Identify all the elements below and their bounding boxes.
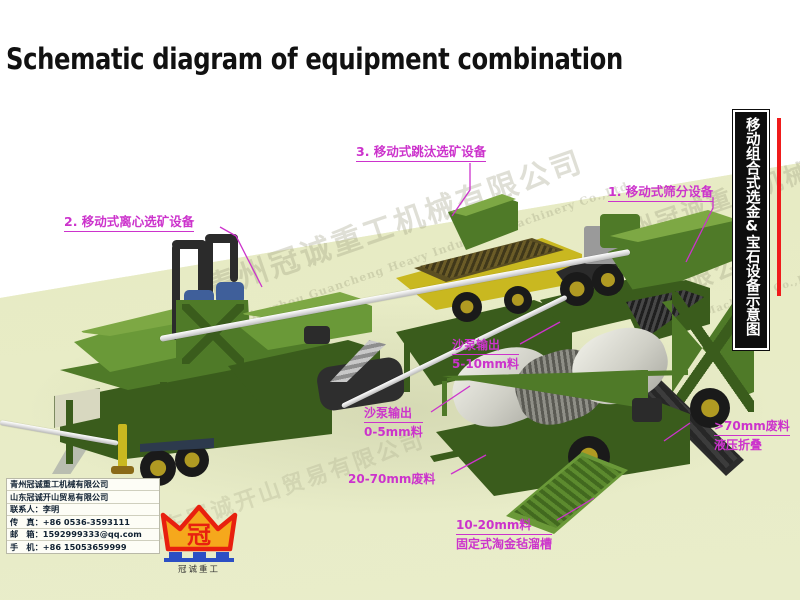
logo-base-block-3: [216, 552, 229, 559]
contact-row-company-2: 山东冠诚开山贸易有限公司: [7, 491, 159, 503]
machine-1-trommel-motor: [632, 398, 662, 422]
machine-2-jack-foot: [111, 466, 134, 474]
callout-sluice-line2: 固定式淘金毡溜槽: [456, 535, 552, 553]
contact-company-1: 青州冠诚重工机械有限公司: [10, 480, 108, 488]
callout-waste-70plus: >70mm废料 液压折叠: [714, 417, 790, 454]
machine-3-tire-1: [560, 272, 594, 306]
contact-card: 青州冠诚重工机械有限公司 山东冠诚开山贸易有限公司 联系人：李明 传 真：+86…: [6, 478, 160, 554]
page-title: Schematic diagram of equipment combinati…: [6, 42, 623, 76]
callout-sand-pump-0-5: 沙泵输出 0-5mm料: [364, 404, 423, 441]
callout-sluice-line1: 10-20mm料: [456, 516, 552, 535]
company-logo: 冠 冠诚重工: [160, 503, 238, 575]
callout-sand-pump-5-10: 沙泵输出 5-10mm料: [452, 336, 519, 373]
contact-email-value: ：1592999333@qq.com: [35, 530, 142, 538]
crown-logo-icon: 冠 冠诚重工: [160, 503, 238, 575]
contact-company-2: 山东冠诚开山贸易有限公司: [10, 493, 108, 501]
machine-3-leg-a: [404, 330, 410, 392]
callout-sand-5-10-line1: 沙泵输出: [452, 336, 519, 355]
contact-mobile-value: ：+86 15053659999: [35, 543, 127, 551]
logo-base-block-1: [169, 552, 182, 559]
contact-person-value: ：李明: [35, 505, 60, 513]
callout-sluice-10-20: 10-20mm料 固定式淘金毡溜槽: [456, 516, 552, 553]
callout-1: 1. 移动式筛分设备: [608, 181, 713, 202]
schematic-canvas: 青州冠诚重工机械有限公司 Qingzhou Guancheng Heavy In…: [0, 0, 800, 600]
contact-fax-key: 传 真: [10, 518, 35, 526]
callout-waste-20-70-line1: 20-70mm废料: [348, 470, 435, 488]
callout-sand-5-10-line2: 5-10mm料: [452, 355, 519, 373]
logo-base-block-2: [193, 552, 206, 559]
contact-row-mobile: 手 机：+86 15053659999: [7, 541, 159, 552]
callout-2-line1: 2. 移动式离心选矿设备: [64, 211, 194, 232]
crown-glyph: 冠: [187, 520, 211, 549]
logo-caption: 冠诚重工: [178, 564, 220, 575]
callout-3: 3. 移动式跳汰选矿设备: [356, 141, 486, 162]
callout-waste-20-70: 20-70mm废料: [348, 470, 435, 488]
callout-2: 2. 移动式离心选矿设备: [64, 211, 194, 232]
red-accent-line: [777, 118, 781, 296]
machine-2-leg-b: [160, 382, 167, 452]
contact-person-key: 联系人: [10, 505, 35, 513]
contact-mobile-key: 手 机: [10, 543, 35, 551]
machine-3-tire-3: [452, 292, 482, 322]
machine-2b-motor: [304, 326, 330, 344]
machine-2-riser-pipe-right-2: [230, 234, 238, 282]
contact-row-fax: 传 真：+86 0536-3593111: [7, 516, 159, 528]
callout-sand-0-5-line1: 沙泵输出: [364, 404, 423, 423]
contact-email-key: 邮 箱: [10, 530, 35, 538]
vertical-banner: 移动组合式选金&宝石设备示意图: [733, 110, 769, 350]
contact-row-email: 邮 箱：1592999333@qq.com: [7, 529, 159, 541]
vertical-banner-text: 移动组合式选金&宝石设备示意图: [743, 117, 758, 336]
contact-fax-value: ：+86 0536-3593111: [35, 518, 130, 526]
callout-1-line1: 1. 移动式筛分设备: [608, 181, 713, 202]
contact-row-person: 联系人：李明: [7, 504, 159, 516]
callout-sand-0-5-line2: 0-5mm料: [364, 423, 423, 441]
callout-waste-70plus-line2: 液压折叠: [714, 436, 790, 454]
contact-row-company-1: 青州冠诚重工机械有限公司: [7, 479, 159, 491]
callout-waste-70plus-line1: >70mm废料: [714, 417, 790, 436]
machine-2-hydraulic-jack: [118, 424, 127, 472]
machine-3-tire-4: [504, 286, 532, 314]
callout-3-line1: 3. 移动式跳汰选矿设备: [356, 141, 486, 162]
